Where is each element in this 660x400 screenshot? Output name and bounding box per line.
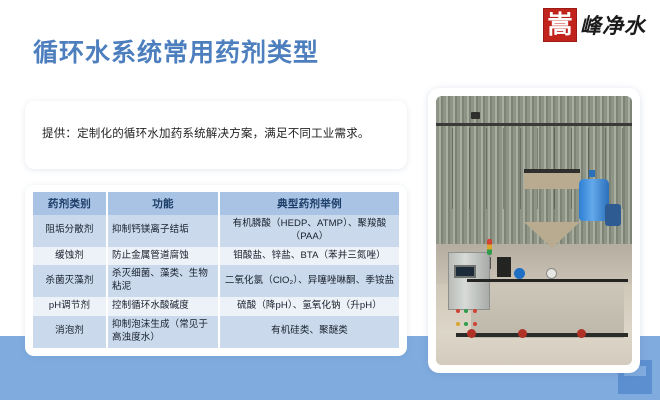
table-row: 消泡剂 抑制泡沫生成（常见于高浊度水） 有机硅类、聚醚类 bbox=[33, 316, 399, 348]
photo-button bbox=[456, 309, 460, 313]
cell-function: 杀灭细菌、藻类、生物粘泥 bbox=[107, 265, 219, 297]
cell-category: 缓蚀剂 bbox=[33, 247, 107, 266]
cell-function: 抑制钙镁离子结垢 bbox=[107, 215, 219, 247]
cell-function: 防止金属管道腐蚀 bbox=[107, 247, 219, 266]
cell-examples: 二氧化氯（ClO₂）、异噻唑啉酮、季铵盐 bbox=[219, 265, 399, 297]
photo-button bbox=[456, 322, 460, 326]
info-card-text: 提供：定制化的循环水加药系统解决方案，满足不同工业需求。 bbox=[42, 126, 370, 143]
photo-ceiling-beam bbox=[436, 123, 632, 126]
photo-junction-box bbox=[497, 257, 511, 277]
cell-examples: 有机硅类、聚醚类 bbox=[219, 316, 399, 348]
table-header-row: 药剂类别 功能 典型药剂举例 bbox=[33, 192, 399, 215]
chemical-table-card: 药剂类别 功能 典型药剂举例 阻垢分散剂 抑制钙镁离子结垢 有机膦酸（HEDP、… bbox=[25, 185, 407, 356]
content-left-column: 提供：定制化的循环水加药系统解决方案，满足不同工业需求。 药剂类别 功能 典型药… bbox=[25, 101, 407, 356]
photo-red-valve bbox=[518, 329, 527, 338]
cell-examples: 硫酸（降pH）、氢氧化钠（升pH） bbox=[219, 297, 399, 316]
table-header-category: 药剂类别 bbox=[33, 192, 107, 215]
photo-pipe-lower bbox=[456, 333, 628, 337]
photo-pipe-upper bbox=[467, 279, 628, 282]
equipment-photo bbox=[436, 96, 632, 365]
slide-root: 嵩 峰净水 循环水系统常用药剂类型 提供：定制化的循环水加药系统解决方案，满足不… bbox=[0, 0, 660, 400]
photo-hopper-cone bbox=[524, 222, 580, 248]
table-header-function: 功能 bbox=[107, 192, 219, 215]
table-row: pH调节剂 控制循环水酸碱度 硫酸（降pH）、氢氧化钠（升pH） bbox=[33, 297, 399, 316]
cell-function: 控制循环水酸碱度 bbox=[107, 297, 219, 316]
brand-logo: 嵩 峰净水 bbox=[543, 8, 646, 42]
cell-category: 消泡剂 bbox=[33, 316, 107, 348]
photo-camera-icon bbox=[471, 112, 480, 119]
photo-tank-neck bbox=[589, 170, 595, 177]
cell-examples: 钼酸盐、锌盐、BTA（苯并三氮唑） bbox=[219, 247, 399, 266]
equipment-photo-card bbox=[428, 88, 640, 373]
chemical-table: 药剂类别 功能 典型药剂举例 阻垢分散剂 抑制钙镁离子结垢 有机膦酸（HEDP、… bbox=[33, 192, 399, 348]
cell-function: 抑制泡沫生成（常见于高浊度水） bbox=[107, 316, 219, 348]
cell-examples: 有机膦酸（HEDP、ATMP）、聚羧酸（PAA） bbox=[219, 215, 399, 247]
cell-category: 阻垢分散剂 bbox=[33, 215, 107, 247]
photo-hmi-screen bbox=[454, 265, 476, 278]
page-title: 循环水系统常用药剂类型 bbox=[33, 33, 319, 69]
table-row: 阻垢分散剂 抑制钙镁离子结垢 有机膦酸（HEDP、ATMP）、聚羧酸（PAA） bbox=[33, 215, 399, 247]
cell-category: 杀菌灭藻剂 bbox=[33, 265, 107, 297]
photo-red-valve bbox=[577, 329, 586, 338]
photo-motor bbox=[605, 204, 621, 226]
logo-seal-icon: 嵩 bbox=[543, 8, 577, 42]
photo-red-valve bbox=[467, 329, 476, 338]
table-row: 杀菌灭藻剂 杀灭细菌、藻类、生物粘泥 二氧化氯（ClO₂）、异噻唑啉酮、季铵盐 bbox=[33, 265, 399, 297]
photo-hopper-top bbox=[524, 169, 580, 189]
cell-category: pH调节剂 bbox=[33, 297, 107, 316]
info-card: 提供：定制化的循环水加药系统解决方案，满足不同工业需求。 bbox=[25, 101, 407, 169]
logo-brand-text: 峰净水 bbox=[580, 10, 646, 40]
table-row: 缓蚀剂 防止金属管道腐蚀 钼酸盐、锌盐、BTA（苯并三氮唑） bbox=[33, 247, 399, 266]
photo-concrete-base bbox=[471, 284, 624, 338]
photo-white-valve bbox=[546, 268, 557, 279]
photo-button bbox=[473, 309, 477, 313]
table-header-examples: 典型药剂举例 bbox=[219, 192, 399, 215]
photo-tower-light-post bbox=[490, 257, 491, 269]
photo-tower-light bbox=[487, 239, 492, 255]
